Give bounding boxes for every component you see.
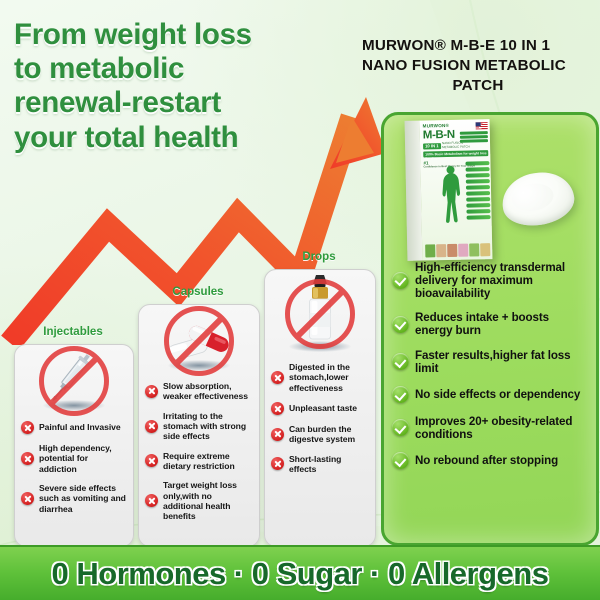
card-label-injectables: Injectables <box>14 326 132 338</box>
check-icon <box>392 386 409 403</box>
prohibition-icon <box>164 306 234 376</box>
comparison-card-capsules: Slow absorption, weaker effectiveness Ir… <box>138 304 260 547</box>
drawback-item: Short-lasting effects <box>271 454 369 475</box>
box-benefit-tags <box>465 161 490 221</box>
product-title-line-2: NANO FUSION METABOLIC <box>362 56 594 76</box>
box-bullet-strip <box>460 131 488 144</box>
benefit-text: Reduces intake + boosts energy burn <box>415 311 589 337</box>
bottom-banner: 0 Hormones · 0 Sugar · 0 Allergens <box>0 545 600 600</box>
comparison-card-injectables: Painful and Invasive High dependency, po… <box>14 344 134 547</box>
capsule-illustration <box>139 305 259 377</box>
injectable-illustration <box>15 345 133 417</box>
box-brand: MURWON® <box>423 123 449 129</box>
cross-icon <box>271 428 284 441</box>
drawback-item: Painful and Invasive <box>21 421 127 434</box>
product-title: MURWON® M-B-E 10 IN 1 NANO FUSION METABO… <box>362 36 594 96</box>
benefit-text: High-efficiency transdermal delivery for… <box>415 261 589 300</box>
infographic-canvas: From weight loss to metabolic renewal-re… <box>0 0 600 600</box>
check-icon <box>392 316 409 333</box>
product-box-image: MURWON® M-B-N 10 IN 1 NANO FUSION METABO… <box>405 119 493 261</box>
drawback-list: Slow absorption, weaker effectiveness Ir… <box>139 377 259 538</box>
box-claim-band: 100% Basic Metabolism for weight loss fo… <box>423 150 488 157</box>
cross-icon <box>21 492 34 505</box>
benefit-item: Reduces intake + boosts energy burn <box>392 311 589 337</box>
cross-icon <box>271 402 284 415</box>
drawback-item: Irritating to the stomach with strong si… <box>145 411 253 442</box>
drawback-text: Slow absorption, weaker effectiveness <box>163 381 253 402</box>
card-label-drops: Drops <box>264 251 374 263</box>
headline-line-2: to metabolic <box>14 52 344 86</box>
benefit-item: No side effects or dependency <box>392 386 589 403</box>
cross-icon <box>145 494 158 507</box>
drawback-item: Target weight loss only,with no addition… <box>145 480 253 521</box>
drawback-text: Can burden the digestve system <box>289 424 369 445</box>
check-icon <box>392 272 409 289</box>
usa-flag-icon <box>476 122 488 129</box>
nano-patch-image <box>498 168 577 231</box>
drawback-text: High dependency, potential for addiction <box>39 443 127 474</box>
product-imagery: MURWON® M-B-N 10 IN 1 NANO FUSION METABO… <box>384 115 596 263</box>
product-title-line-3: PATCH <box>362 76 594 96</box>
drawback-text: Unpleasant taste <box>289 403 357 413</box>
benefit-item: Improves 20+ obesity-related conditions <box>392 415 589 441</box>
benefit-text: Faster results,higher fat loss limit <box>415 349 589 375</box>
prohibition-icon <box>285 279 355 349</box>
benefit-item: Faster results,higher fat loss limit <box>392 349 589 375</box>
drawback-list: Painful and Invasive High dependency, po… <box>15 417 133 531</box>
drawback-text: Short-lasting effects <box>289 454 369 475</box>
dropper-illustration <box>265 270 375 358</box>
cross-icon <box>21 421 34 434</box>
cross-icon <box>145 385 158 398</box>
comparison-card-drops: Digested in the stomach,lower effectiven… <box>264 269 376 547</box>
headline-line-1: From weight loss <box>14 18 344 52</box>
drawback-text: Target weight loss only,with no addition… <box>163 480 253 521</box>
drawback-list: Digested in the stomach,lower effectiven… <box>265 358 375 491</box>
check-icon <box>392 353 409 370</box>
benefit-text: Improves 20+ obesity-related conditions <box>415 415 589 441</box>
benefit-item: High-efficiency transdermal delivery for… <box>392 261 589 300</box>
product-box-face: MURWON® M-B-N 10 IN 1 NANO FUSION METABO… <box>420 119 493 260</box>
product-title-line-1: MURWON® M-B-E 10 IN 1 <box>362 37 550 54</box>
benefit-text: No rebound after stopping <box>415 454 558 467</box>
drawback-item: Require extreme dietary restriction <box>145 451 253 472</box>
cross-icon <box>145 454 158 467</box>
cross-icon <box>271 457 284 470</box>
body-silhouette-icon <box>434 164 467 227</box>
box-name: M-B-N <box>423 129 455 142</box>
drawback-item: Can burden the digestve system <box>271 424 369 445</box>
bottom-banner-text: 0 Hormones · 0 Sugar · 0 Allergens <box>52 556 549 592</box>
benefit-text: No side effects or dependency <box>415 388 580 401</box>
drawback-text: Require extreme dietary restriction <box>163 451 253 472</box>
drawback-text: Irritating to the stomach with strong si… <box>163 411 253 442</box>
drawback-item: Severe side effects such as vomiting and… <box>21 483 127 514</box>
benefit-item: No rebound after stopping <box>392 452 589 469</box>
prohibition-icon <box>39 346 109 416</box>
drawback-item: Unpleasant taste <box>271 402 369 415</box>
drawback-item: Digested in the stomach,lower effectiven… <box>271 362 369 393</box>
drawback-item: Slow absorption, weaker effectiveness <box>145 381 253 402</box>
check-icon <box>392 419 409 436</box>
benefits-panel: MURWON® M-B-N 10 IN 1 NANO FUSION METABO… <box>381 112 599 546</box>
box-photo-strip <box>425 243 490 257</box>
card-label-capsules: Capsules <box>138 286 258 298</box>
check-icon <box>392 452 409 469</box>
drawback-item: High dependency, potential for addiction <box>21 443 127 474</box>
cross-icon <box>271 371 284 384</box>
cross-icon <box>21 452 34 465</box>
drawback-text: Digested in the stomach,lower effectiven… <box>289 362 369 393</box>
drawback-text: Severe side effects such as vomiting and… <box>39 483 127 514</box>
box-count-badge: 10 IN 1 <box>423 143 441 149</box>
cross-icon <box>145 420 158 433</box>
benefits-list: High-efficiency transdermal delivery for… <box>392 261 589 481</box>
drawback-text: Painful and Invasive <box>39 422 121 432</box>
